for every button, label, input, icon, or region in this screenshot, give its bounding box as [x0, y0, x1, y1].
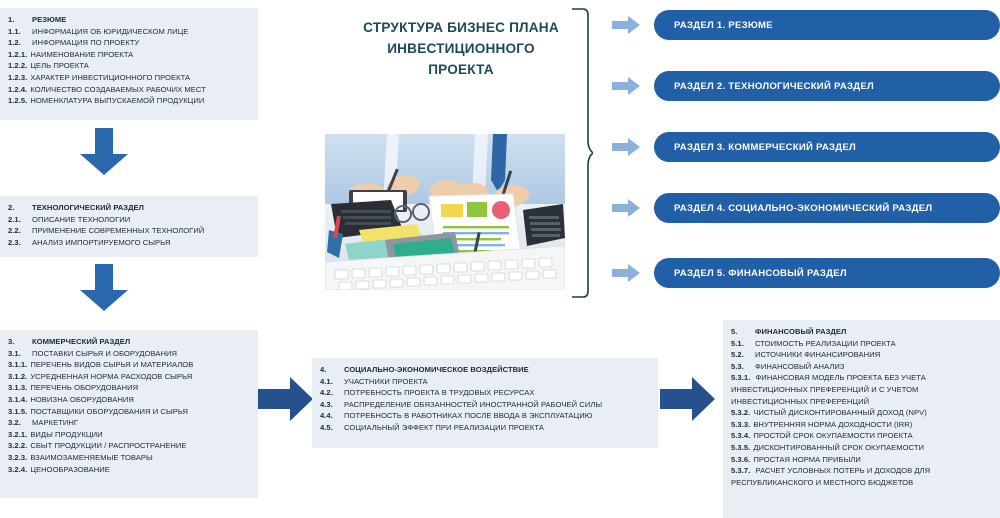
- outline-line: 1.2.4.КОЛИЧЕСТВО СОЗДАВАЕМЫХ РАБОЧИХ МЕС…: [8, 84, 250, 96]
- outline-line-text: ВЗАИМОЗАМЕНЯЕМЫЕ ТОВАРЫ: [30, 452, 152, 464]
- outline-line-number: 3.1.4.: [8, 394, 27, 406]
- pill-arrow-2-icon: [612, 77, 640, 95]
- outline-line-text: МАРКЕТИНГ: [32, 417, 78, 429]
- outline-line: 2.3.АНАЛИЗ ИМПОРТИРУЕМОГО СЫРЬЯ: [8, 237, 250, 249]
- arrow-down-technological-to-commercial: [78, 264, 130, 312]
- outline-line: 1.2.ИНФОРМАЦИЯ ПО ПРОЕКТУ: [8, 37, 250, 49]
- outline-line-number: 1.2.: [8, 37, 32, 49]
- panel-social-economic: 4.СОЦИАЛЬНО-ЭКОНОМИЧЕСКОЕ ВОЗДЕЙСТВИЕ4.1…: [312, 358, 658, 448]
- outline-line-text: НОМЕНКЛАТУРА ВЫПУСКАЕМОЙ ПРОДУКЦИИ: [30, 95, 204, 107]
- outline-line-text: ИНФОРМАЦИЯ ПО ПРОЕКТУ: [32, 37, 139, 49]
- outline-line-number: 5.3.3.: [731, 419, 750, 431]
- title-line-3: ПРОЕКТА: [330, 59, 592, 80]
- outline-line-number: 2.2.: [8, 225, 32, 237]
- outline-line: 5.2.ИСТОЧНИКИ ФИНАНСИРОВАНИЯ: [731, 349, 992, 361]
- outline-line: 4.1.УЧАСТНИКИ ПРОЕКТА: [320, 376, 650, 388]
- panel-commercial-lines: 3.КОММЕРЧЕСКИЙ РАЗДЕЛ3.1.ПОСТАВКИ СЫРЬЯ …: [8, 336, 250, 475]
- outline-line: 5.3.2.ЧИСТЫЙ ДИСКОНТИРОВАННЫЙ ДОХОД (NPV…: [731, 407, 992, 419]
- pill-arrow-4-icon: [612, 199, 640, 217]
- outline-line-number: 1.1.: [8, 26, 32, 38]
- outline-line-text: СОЦИАЛЬНО-ЭКОНОМИЧЕСКОЕ ВОЗДЕЙСТВИЕ: [344, 364, 529, 376]
- outline-line: 1.2.2.ЦЕЛЬ ПРОЕКТА: [8, 60, 250, 72]
- outline-line-text: ПРОСТОЙ СРОК ОКУПАЕМОСТИ ПРОЕКТА: [753, 430, 912, 442]
- outline-line-text: ПОТРЕБНОСТЬ ПРОЕКТА В ТРУДОВЫХ РЕСУРСАХ: [344, 387, 535, 399]
- panel-social-economic-lines: 4.СОЦИАЛЬНО-ЭКОНОМИЧЕСКОЕ ВОЗДЕЙСТВИЕ4.1…: [320, 364, 650, 434]
- outline-line-number: 4.1.: [320, 376, 344, 388]
- outline-line: 1.1.ИНФОРМАЦИЯ ОБ ЮРИДИЧЕСКОМ ЛИЦЕ: [8, 26, 250, 38]
- outline-line-number: 5.3.6.: [731, 454, 750, 466]
- outline-line: 3.1.3.ПЕРЕЧЕНЬ ОБОРУДОВАНИЯ: [8, 382, 250, 394]
- outline-line: 3.КОММЕРЧЕСКИЙ РАЗДЕЛ: [8, 336, 250, 348]
- outline-line-text: СБЫТ ПРОДУКЦИИ / РАСПРОСТРАНЕНИЕ: [30, 440, 186, 452]
- outline-line-text: РАСЧЕТ УСЛОВНЫХ ПОТЕРЬ И ДОХОДОВ ДЛЯ РЕС…: [731, 466, 930, 487]
- business-desk-photo: [325, 134, 565, 290]
- outline-line: 1.РЕЗЮМЕ: [8, 14, 250, 26]
- pill-section-5-label: РАЗДЕЛ 5. ФИНАНСОВЫЙ РАЗДЕЛ: [674, 268, 847, 279]
- outline-line: 3.1.4.НОВИЗНА ОБОРУДОВАНИЯ: [8, 394, 250, 406]
- outline-line-text: ИНФОРМАЦИЯ ОБ ЮРИДИЧЕСКОМ ЛИЦЕ: [32, 26, 188, 38]
- outline-line: 5.3.7. РАСЧЕТ УСЛОВНЫХ ПОТЕРЬ И ДОХОДОВ …: [731, 465, 992, 488]
- outline-line-number: 3.2.4.: [8, 464, 27, 476]
- outline-line-number: 5.3.5.: [731, 442, 750, 454]
- outline-line: 3.2.1.ВИДЫ ПРОДУКЦИИ: [8, 429, 250, 441]
- outline-line-text: ЦЕЛЬ ПРОЕКТА: [30, 60, 89, 72]
- outline-line-number: 2.1.: [8, 214, 32, 226]
- title-line-1: СТРУКТУРА БИЗНЕС ПЛАНА: [330, 17, 592, 38]
- diagram-canvas: СТРУКТУРА БИЗНЕС ПЛАНА ИНВЕСТИЦИОННОГО П…: [0, 0, 1000, 518]
- outline-line: 5.3.1. ФИНАНСОВАЯ МОДЕЛЬ ПРОЕКТА БЕЗ УЧЕ…: [731, 372, 992, 407]
- outline-line-text: ЦЕНООБРАЗОВАНИЕ: [30, 464, 110, 476]
- outline-line-number: 3.1.2.: [8, 371, 27, 383]
- outline-line: 5.3.ФИНАНСОВЫЙ АНАЛИЗ: [731, 361, 992, 373]
- outline-line-number: 5.3.4.: [731, 430, 750, 442]
- outline-line-text: ВИДЫ ПРОДУКЦИИ: [30, 429, 102, 441]
- outline-line-number: 5.1.: [731, 338, 755, 350]
- outline-line: 5.ФИНАНСОВЫЙ РАЗДЕЛ: [731, 326, 992, 338]
- outline-line-text: ФИНАНСОВАЯ МОДЕЛЬ ПРОЕКТА БЕЗ УЧЕТА ИНВЕ…: [731, 373, 926, 405]
- outline-line-text: ХАРАКТЕР ИНВЕСТИЦИОННОГО ПРОЕКТА: [30, 72, 190, 84]
- outline-line: 4.СОЦИАЛЬНО-ЭКОНОМИЧЕСКОЕ ВОЗДЕЙСТВИЕ: [320, 364, 650, 376]
- pill-section-3[interactable]: РАЗДЕЛ 3. КОММЕРЧЕСКИЙ РАЗДЕЛ: [654, 132, 1000, 162]
- outline-line: 5.1.СТОИМОСТЬ РЕАЛИЗАЦИИ ПРОЕКТА: [731, 338, 992, 350]
- outline-line: 3.2.2.СБЫТ ПРОДУКЦИИ / РАСПРОСТРАНЕНИЕ: [8, 440, 250, 452]
- pill-section-5[interactable]: РАЗДЕЛ 5. ФИНАНСОВЫЙ РАЗДЕЛ: [654, 258, 1000, 288]
- outline-line: 2.ТЕХНОЛОГИЧЕСКИЙ РАЗДЕЛ: [8, 202, 250, 214]
- outline-line: 2.2.ПРИМЕНЕНИЕ СОВРЕМЕННЫХ ТЕХНОЛОГИЙ: [8, 225, 250, 237]
- outline-line-number: 1.2.2.: [8, 60, 27, 72]
- outline-line-text: ФИНАНСОВЫЙ РАЗДЕЛ: [755, 326, 846, 338]
- outline-line: 4.4.ПОТРЕБНОСТЬ В РАБОТНИКАХ ПОСЛЕ ВВОДА…: [320, 410, 650, 422]
- outline-line-number: 5.3.: [731, 361, 755, 373]
- outline-line-number: 5.: [731, 326, 755, 338]
- outline-line: 1.2.3.ХАРАКТЕР ИНВЕСТИЦИОННОГО ПРОЕКТА: [8, 72, 250, 84]
- outline-line-text: ВНУТРЕННЯЯ НОРМА ДОХОДНОСТИ (IRR): [753, 419, 912, 431]
- outline-line-number: 3.2.: [8, 417, 32, 429]
- outline-line: 1.2.1.НАИМЕНОВАНИЕ ПРОЕКТА: [8, 49, 250, 61]
- outline-line: 3.1.5.ПОСТАВЩИКИ ОБОРУДОВАНИЯ И СЫРЬЯ: [8, 406, 250, 418]
- page-title: СТРУКТУРА БИЗНЕС ПЛАНА ИНВЕСТИЦИОННОГО П…: [330, 17, 592, 80]
- pill-section-4[interactable]: РАЗДЕЛ 4. СОЦИАЛЬНО-ЭКОНОМИЧЕСКИЙ РАЗДЕЛ: [654, 193, 1000, 223]
- outline-line-text: ПОСТАВЩИКИ ОБОРУДОВАНИЯ И СЫРЬЯ: [30, 406, 188, 418]
- outline-line: 5.3.5.ДИСКОНТИРОВАННЫЙ СРОК ОКУПАЕМОСТИ: [731, 442, 992, 454]
- outline-line-text: ДИСКОНТИРОВАННЫЙ СРОК ОКУПАЕМОСТИ: [753, 442, 924, 454]
- outline-line: 3.2.4.ЦЕНООБРАЗОВАНИЕ: [8, 464, 250, 476]
- outline-line: 4.2.ПОТРЕБНОСТЬ ПРОЕКТА В ТРУДОВЫХ РЕСУР…: [320, 387, 650, 399]
- outline-line-text: ПОСТАВКИ СЫРЬЯ И ОБОРУДОВАНИЯ: [32, 348, 177, 360]
- pill-section-1-label: РАЗДЕЛ 1. РЕЗЮМЕ: [674, 20, 773, 31]
- outline-line-number: 5.3.1.: [731, 373, 750, 382]
- outline-line-number: 1.2.5.: [8, 95, 27, 107]
- outline-line: 5.3.3.ВНУТРЕННЯЯ НОРМА ДОХОДНОСТИ (IRR): [731, 419, 992, 431]
- outline-line: 3.1.ПОСТАВКИ СЫРЬЯ И ОБОРУДОВАНИЯ: [8, 348, 250, 360]
- outline-line-number: 3.2.1.: [8, 429, 27, 441]
- outline-line-text: ПОТРЕБНОСТЬ В РАБОТНИКАХ ПОСЛЕ ВВОДА В Э…: [344, 410, 592, 422]
- outline-line-number: 1.: [8, 14, 32, 26]
- panel-commercial: 3.КОММЕРЧЕСКИЙ РАЗДЕЛ3.1.ПОСТАВКИ СЫРЬЯ …: [0, 330, 258, 498]
- outline-line-number: 1.2.4.: [8, 84, 27, 96]
- pill-section-2-label: РАЗДЕЛ 2. ТЕХНОЛОГИЧЕСКИЙ РАЗДЕЛ: [674, 81, 874, 92]
- outline-line-number: 5.2.: [731, 349, 755, 361]
- outline-line-number: 3.1.: [8, 348, 32, 360]
- outline-line-text: ПЕРЕЧЕНЬ ВИДОВ СЫРЬЯ И МАТЕРИАЛОВ: [30, 359, 193, 371]
- outline-line-text: ИСТОЧНИКИ ФИНАНСИРОВАНИЯ: [755, 349, 880, 361]
- outline-line-text: ФИНАНСОВЫЙ АНАЛИЗ: [755, 361, 845, 373]
- outline-line-number: 1.2.1.: [8, 49, 27, 61]
- title-line-2: ИНВЕСТИЦИОННОГО: [330, 38, 592, 59]
- outline-line-text: АНАЛИЗ ИМПОРТИРУЕМОГО СЫРЬЯ: [32, 237, 170, 249]
- outline-line: 1.2.5.НОМЕНКЛАТУРА ВЫПУСКАЕМОЙ ПРОДУКЦИИ: [8, 95, 250, 107]
- outline-line-number: 3.2.3.: [8, 452, 27, 464]
- outline-line-text: ОПИСАНИЕ ТЕХНОЛОГИИ: [32, 214, 130, 226]
- outline-line-number: 5.3.7.: [731, 466, 750, 475]
- outline-line: 3.1.1.ПЕРЕЧЕНЬ ВИДОВ СЫРЬЯ И МАТЕРИАЛОВ: [8, 359, 250, 371]
- outline-line: 5.3.6.ПРОСТАЯ НОРМА ПРИБЫЛИ: [731, 454, 992, 466]
- outline-line-text: КОЛИЧЕСТВО СОЗДАВАЕМЫХ РАБОЧИХ МЕСТ: [30, 84, 206, 96]
- outline-line-number: 1.2.3.: [8, 72, 27, 84]
- pill-section-1[interactable]: РАЗДЕЛ 1. РЕЗЮМЕ: [654, 10, 1000, 40]
- outline-line-number: 3.: [8, 336, 32, 348]
- outline-line-text: РЕЗЮМЕ: [32, 14, 66, 26]
- outline-line-text: ПРОСТАЯ НОРМА ПРИБЫЛИ: [753, 454, 861, 466]
- panel-resume-lines: 1.РЕЗЮМЕ1.1.ИНФОРМАЦИЯ ОБ ЮРИДИЧЕСКОМ ЛИ…: [8, 14, 250, 107]
- outline-line-number: 4.4.: [320, 410, 344, 422]
- outline-line: 3.2.МАРКЕТИНГ: [8, 417, 250, 429]
- grouping-brace: [571, 8, 593, 298]
- outline-line: 2.1.ОПИСАНИЕ ТЕХНОЛОГИИ: [8, 214, 250, 226]
- outline-line: 4.5.СОЦИАЛЬНЫЙ ЭФФЕКТ ПРИ РЕАЛИЗАЦИИ ПРО…: [320, 422, 650, 434]
- outline-line-number: 4.: [320, 364, 344, 376]
- panel-technological-lines: 2.ТЕХНОЛОГИЧЕСКИЙ РАЗДЕЛ2.1.ОПИСАНИЕ ТЕХ…: [8, 202, 250, 248]
- outline-line-number: 3.1.1.: [8, 359, 27, 371]
- panel-resume: 1.РЕЗЮМЕ1.1.ИНФОРМАЦИЯ ОБ ЮРИДИЧЕСКОМ ЛИ…: [0, 8, 258, 120]
- outline-line-text: РАСПРЕДЕЛЕНИЕ ОБЯЗАННОСТЕЙ ИНОСТРАННОЙ Р…: [344, 399, 602, 411]
- pill-arrow-5-icon: [612, 264, 640, 282]
- outline-line-text: ПЕРЕЧЕНЬ ОБОРУДОВАНИЯ: [30, 382, 138, 394]
- outline-line-number: 4.2.: [320, 387, 344, 399]
- outline-line-number: 2.: [8, 202, 32, 214]
- outline-line: 3.1.2.УСРЕДНЕННАЯ НОРМА РАСХОДОВ СЫРЬЯ: [8, 371, 250, 383]
- panel-financial: 5.ФИНАНСОВЫЙ РАЗДЕЛ5.1.СТОИМОСТЬ РЕАЛИЗА…: [723, 320, 1000, 518]
- panel-technological: 2.ТЕХНОЛОГИЧЕСКИЙ РАЗДЕЛ2.1.ОПИСАНИЕ ТЕХ…: [0, 196, 258, 257]
- outline-line-text: КОММЕРЧЕСКИЙ РАЗДЕЛ: [32, 336, 130, 348]
- outline-line-number: 4.3.: [320, 399, 344, 411]
- outline-line-text: ТЕХНОЛОГИЧЕСКИЙ РАЗДЕЛ: [32, 202, 144, 214]
- arrow-right-commercial-to-social: [258, 376, 314, 422]
- outline-line-number: 3.1.5.: [8, 406, 27, 418]
- pill-arrow-1-icon: [612, 16, 640, 34]
- outline-line: 4.3.РАСПРЕДЕЛЕНИЕ ОБЯЗАННОСТЕЙ ИНОСТРАНН…: [320, 399, 650, 411]
- pill-section-2[interactable]: РАЗДЕЛ 2. ТЕХНОЛОГИЧЕСКИЙ РАЗДЕЛ: [654, 71, 1000, 101]
- arrow-down-resume-to-technological: [78, 128, 130, 176]
- outline-line-text: УСРЕДНЕННАЯ НОРМА РАСХОДОВ СЫРЬЯ: [30, 371, 192, 383]
- outline-line-number: 2.3.: [8, 237, 32, 249]
- outline-line-number: 4.5.: [320, 422, 344, 434]
- outline-line-text: ПРИМЕНЕНИЕ СОВРЕМЕННЫХ ТЕХНОЛОГИЙ: [32, 225, 204, 237]
- outline-line-number: 3.1.3.: [8, 382, 27, 394]
- pill-arrow-3-icon: [612, 138, 640, 156]
- outline-line-text: НАИМЕНОВАНИЕ ПРОЕКТА: [30, 49, 133, 61]
- outline-line-text: УЧАСТНИКИ ПРОЕКТА: [344, 376, 428, 388]
- pill-section-3-label: РАЗДЕЛ 3. КОММЕРЧЕСКИЙ РАЗДЕЛ: [674, 142, 856, 153]
- outline-line-text: СОЦИАЛЬНЫЙ ЭФФЕКТ ПРИ РЕАЛИЗАЦИИ ПРОЕКТА: [344, 422, 544, 434]
- outline-line-number: 5.3.2.: [731, 407, 750, 419]
- outline-line: 5.3.4.ПРОСТОЙ СРОК ОКУПАЕМОСТИ ПРОЕКТА: [731, 430, 992, 442]
- outline-line-text: СТОИМОСТЬ РЕАЛИЗАЦИИ ПРОЕКТА: [755, 338, 896, 350]
- panel-financial-lines: 5.ФИНАНСОВЫЙ РАЗДЕЛ5.1.СТОИМОСТЬ РЕАЛИЗА…: [731, 326, 992, 488]
- outline-line-text: НОВИЗНА ОБОРУДОВАНИЯ: [30, 394, 134, 406]
- outline-line-text: ЧИСТЫЙ ДИСКОНТИРОВАННЫЙ ДОХОД (NPV): [753, 407, 926, 419]
- outline-line: 3.2.3.ВЗАИМОЗАМЕНЯЕМЫЕ ТОВАРЫ: [8, 452, 250, 464]
- outline-line-number: 3.2.2.: [8, 440, 27, 452]
- pill-section-4-label: РАЗДЕЛ 4. СОЦИАЛЬНО-ЭКОНОМИЧЕСКИЙ РАЗДЕЛ: [674, 203, 932, 214]
- arrow-right-social-to-financial: [660, 376, 716, 422]
